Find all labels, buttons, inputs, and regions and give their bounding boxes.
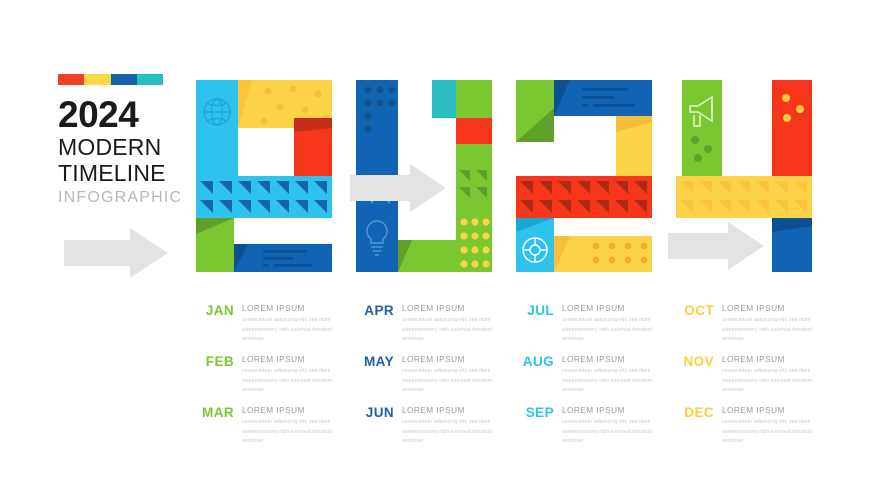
month-label: FEB: [196, 354, 234, 369]
item-text: consectetuer adipiscing elit, sed diam s…: [402, 316, 514, 343]
tile-globe: [196, 80, 238, 176]
item-text: consectetuer adipiscing elit, sed diam s…: [242, 367, 354, 394]
list-item[interactable]: DEC LOREM IPSUM consectetuer adipiscing …: [676, 405, 836, 456]
dot-pattern: [460, 218, 489, 267]
dot-pattern: [772, 80, 812, 176]
item-title: LOREM IPSUM: [722, 303, 834, 314]
item-text: consectetuer adipiscing elit, sed diam s…: [722, 367, 834, 394]
item-text: consectetuer adipiscing elit, sed diam s…: [242, 316, 354, 343]
list-item[interactable]: FEB LOREM IPSUM consectetuer adipiscing …: [196, 354, 356, 405]
month-label: SEP: [516, 405, 554, 420]
lightbulb-icon: [367, 221, 387, 255]
tile-triangle-band: [516, 176, 652, 218]
tile-text-lines: [554, 80, 652, 116]
text-lines-pattern: [234, 244, 332, 272]
month-label: JUN: [356, 405, 394, 420]
title-block: 2024 MODERN TIMELINE INFOGRAPHIC: [58, 74, 178, 209]
item-title: LOREM IPSUM: [402, 354, 514, 365]
list-item[interactable]: JAN LOREM IPSUM consectetuer adipiscing …: [196, 303, 356, 354]
swatch-yellow: [84, 74, 110, 85]
list-item[interactable]: JUL LOREM IPSUM consectetuer adipiscing …: [516, 303, 676, 354]
tile-blue-column: [772, 218, 812, 272]
month-label: APR: [356, 303, 394, 318]
swatch-bar: [58, 74, 163, 85]
arrow-right-icon-title: [64, 228, 168, 278]
tile-red: [456, 118, 492, 144]
month-column-3: OCT LOREM IPSUM consectetuer adipiscing …: [676, 303, 836, 456]
month-label: NOV: [676, 354, 714, 369]
numeral-block-2: [516, 80, 652, 272]
globe-icon: [196, 80, 238, 176]
item-text: consectetuer adipiscing elit, sed diam s…: [562, 418, 674, 445]
page-title-year: 2024: [58, 96, 178, 135]
pie-chart-icon: [523, 238, 547, 262]
month-column-1: APR LOREM IPSUM consectetuer adipiscing …: [356, 303, 516, 456]
numeral-block-0: [196, 80, 332, 272]
item-text: consectetuer adipiscing elit, sed diam s…: [402, 418, 514, 445]
month-column-0: JAN LOREM IPSUM consectetuer adipiscing …: [196, 303, 356, 456]
numeral-block-3: [676, 80, 812, 272]
item-title: LOREM IPSUM: [402, 303, 514, 314]
month-label: MAR: [196, 405, 234, 420]
list-item[interactable]: NOV LOREM IPSUM consectetuer adipiscing …: [676, 354, 836, 405]
tile-green: [516, 80, 554, 142]
triangle-pattern: [516, 176, 652, 218]
list-item[interactable]: MAY LOREM IPSUM consectetuer adipiscing …: [356, 354, 516, 405]
item-title: LOREM IPSUM: [722, 405, 834, 416]
tile-teal: [432, 80, 456, 118]
item-title: LOREM IPSUM: [722, 354, 834, 365]
month-label: AUG: [516, 354, 554, 369]
tile-red: [294, 118, 332, 176]
item-text: consectetuer adipiscing elit, sed diam s…: [402, 367, 514, 394]
tile-triangle-band: [196, 176, 332, 218]
month-label: JAN: [196, 303, 234, 318]
tile-green-top: [456, 80, 492, 118]
dot-pattern: [554, 236, 652, 272]
text-lines-pattern: [554, 80, 652, 116]
list-item[interactable]: OCT LOREM IPSUM consectetuer adipiscing …: [676, 303, 836, 354]
month-label: MAY: [356, 354, 394, 369]
tile-pie-chart: [516, 218, 554, 272]
month-label: JUL: [516, 303, 554, 318]
list-item[interactable]: APR LOREM IPSUM consectetuer adipiscing …: [356, 303, 516, 354]
item-title: LOREM IPSUM: [242, 405, 354, 416]
list-item[interactable]: SEP LOREM IPSUM consectetuer adipiscing …: [516, 405, 676, 456]
list-item[interactable]: MAR LOREM IPSUM consectetuer adipiscing …: [196, 405, 356, 456]
month-label: OCT: [676, 303, 714, 318]
tile-triangle-band: [676, 176, 812, 218]
triangle-pattern: [196, 176, 332, 218]
tile-yellow-dots: [554, 236, 652, 272]
item-title: LOREM IPSUM: [242, 303, 354, 314]
tile-text-lines: [234, 244, 332, 272]
item-title: LOREM IPSUM: [562, 303, 674, 314]
numeral-block-1: [356, 80, 492, 272]
page-title-line1: MODERN: [58, 135, 178, 161]
swatch-red: [58, 74, 84, 85]
list-item[interactable]: AUG LOREM IPSUM consectetuer adipiscing …: [516, 354, 676, 405]
triangle-pattern: [676, 176, 812, 218]
month-label: DEC: [676, 405, 714, 420]
item-title: LOREM IPSUM: [402, 405, 514, 416]
item-title: LOREM IPSUM: [562, 405, 674, 416]
tile-green-bottom: [398, 240, 456, 272]
tile-green: [196, 218, 234, 272]
list-item[interactable]: JUN LOREM IPSUM consectetuer adipiscing …: [356, 405, 516, 456]
page-title-line2: TIMELINE: [58, 161, 178, 187]
arrow-right-icon-end: [668, 222, 764, 270]
tile-red-column: [772, 80, 812, 176]
item-text: consectetuer adipiscing elit, sed diam s…: [242, 418, 354, 445]
dot-pattern: [691, 136, 712, 162]
item-text: consectetuer adipiscing elit, sed diam s…: [562, 367, 674, 394]
tile-yellow: [616, 116, 652, 176]
month-column-2: JUL LOREM IPSUM consectetuer adipiscing …: [516, 303, 676, 456]
swatch-blue: [111, 74, 137, 85]
page-subtitle: INFOGRAPHIC: [58, 188, 178, 209]
triangle-pattern: [459, 170, 487, 198]
tile-green-column: [456, 144, 492, 272]
megaphone-icon: [690, 97, 712, 126]
item-title: LOREM IPSUM: [562, 354, 674, 365]
swatch-teal: [137, 74, 163, 85]
item-text: consectetuer adipiscing elit, sed diam s…: [722, 418, 834, 445]
item-text: consectetuer adipiscing elit, sed diam s…: [722, 316, 834, 343]
arrow-right-icon-inner: [350, 164, 446, 212]
tile-megaphone: [682, 80, 722, 176]
item-title: LOREM IPSUM: [242, 354, 354, 365]
item-text: consectetuer adipiscing elit, sed diam s…: [562, 316, 674, 343]
